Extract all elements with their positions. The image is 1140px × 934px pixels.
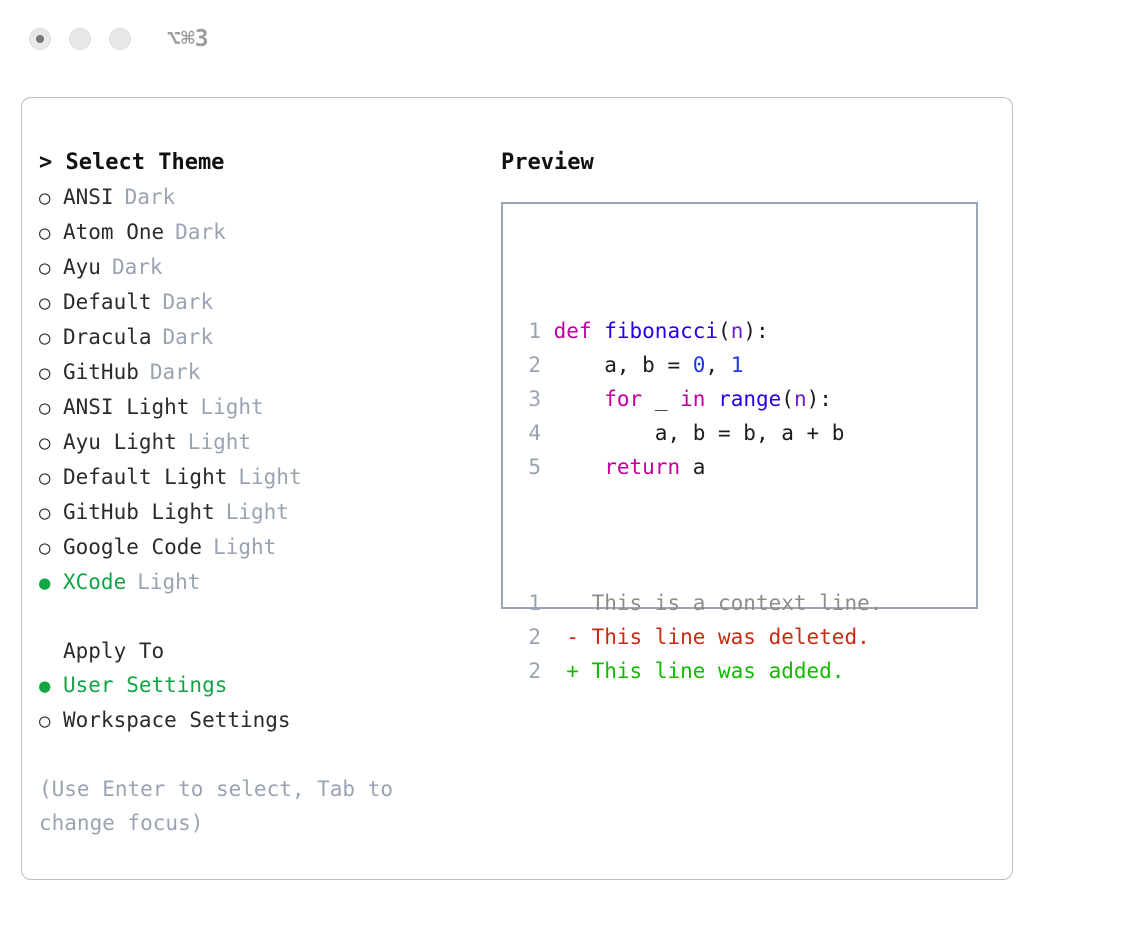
- code-line: 2 a, b = 0, 1: [515, 348, 882, 382]
- code-token-plain: [705, 387, 718, 411]
- preview-heading: Preview: [501, 146, 1001, 180]
- radio-unselected-icon: ○: [39, 321, 63, 355]
- keyboard-hint-text: (Use Enter to select, Tab to change focu…: [39, 772, 439, 840]
- code-sample: 1 def fibonacci(n):2 a, b = 0, 13 for _ …: [515, 314, 882, 484]
- theme-kind-label: Dark: [150, 355, 201, 389]
- code-line-number: 3: [515, 382, 541, 416]
- apply-to-heading: Apply To: [39, 634, 479, 668]
- code-token-var: n: [731, 319, 744, 343]
- apply-to-option-label: Workspace Settings: [63, 703, 291, 737]
- theme-list-item[interactable]: ○Google CodeLight: [39, 530, 479, 565]
- apply-to-option-label: User Settings: [63, 668, 227, 702]
- apply-to-options: ●User Settings○Workspace Settings: [39, 668, 479, 738]
- window-controls: [29, 28, 131, 50]
- radio-unselected-icon: ○: [39, 426, 63, 460]
- diff-line-text-add: + This line was added.: [566, 659, 844, 683]
- code-line-number: 1: [515, 314, 541, 348]
- code-token-plain: ):: [807, 387, 832, 411]
- code-line-number: 4: [515, 416, 541, 450]
- window-button-3[interactable]: [109, 28, 131, 50]
- diff-line: 1 This is a context line.: [515, 586, 882, 620]
- radio-unselected-icon: ○: [39, 286, 63, 320]
- code-token-var: n: [794, 387, 807, 411]
- code-token-num: 0: [693, 353, 706, 377]
- theme-kind-label: Light: [188, 425, 251, 459]
- code-token-fn: range: [718, 387, 781, 411]
- diff-sample: 1 This is a context line.2 - This line w…: [515, 586, 882, 688]
- code-line-number: 5: [515, 450, 541, 484]
- code-token-plain: ,: [705, 353, 730, 377]
- theme-kind-label: Light: [200, 390, 263, 424]
- radio-unselected-icon: ○: [39, 181, 63, 215]
- theme-list-item[interactable]: ○Atom OneDark: [39, 215, 479, 250]
- theme-kind-label: Dark: [163, 285, 214, 319]
- theme-list-item[interactable]: ○Default LightLight: [39, 460, 479, 495]
- code-token-kw: for: [604, 387, 642, 411]
- theme-kind-label: Dark: [112, 250, 163, 284]
- theme-list: ○ANSIDark○Atom OneDark○AyuDark○DefaultDa…: [39, 180, 479, 600]
- radio-unselected-icon: ○: [39, 704, 63, 738]
- radio-unselected-icon: ○: [39, 496, 63, 530]
- code-line: 1 def fibonacci(n):: [515, 314, 882, 348]
- window-button-1[interactable]: [29, 28, 51, 50]
- theme-kind-label: Light: [238, 460, 301, 494]
- code-line-number: 2: [515, 348, 541, 382]
- preview-column: Preview 1 def fibonacci(n):2 a, b = 0, 1…: [501, 146, 1001, 609]
- theme-list-item[interactable]: ●XCodeLight: [39, 565, 479, 600]
- theme-kind-label: Light: [137, 565, 200, 599]
- code-token-kw: in: [680, 387, 705, 411]
- title-bar: ⌥⌘3: [0, 0, 1140, 78]
- code-token-num: 1: [731, 353, 744, 377]
- code-line: 4 a, b = b, a + b: [515, 416, 882, 450]
- preview-box: 1 def fibonacci(n):2 a, b = 0, 13 for _ …: [501, 202, 978, 609]
- diff-line-number: 2: [515, 654, 541, 688]
- apply-to-group: Apply To ●User Settings○Workspace Settin…: [39, 634, 479, 738]
- theme-list-item[interactable]: ○GitHub LightLight: [39, 495, 479, 530]
- radio-selected-icon: ●: [39, 566, 63, 600]
- window-button-2[interactable]: [69, 28, 91, 50]
- theme-list-item[interactable]: ○DefaultDark: [39, 285, 479, 320]
- diff-line-number: 2: [515, 620, 541, 654]
- theme-name: Google Code: [63, 530, 202, 564]
- code-token-plain: ):: [743, 319, 768, 343]
- theme-picker-panel: > Select Theme ○ANSIDark○Atom OneDark○Ay…: [21, 97, 1013, 880]
- theme-name: Ayu Light: [63, 425, 177, 459]
- theme-name: Ayu: [63, 250, 101, 284]
- code-line: 5 return a: [515, 450, 882, 484]
- theme-name: GitHub Light: [63, 495, 215, 529]
- theme-kind-label: Dark: [175, 215, 226, 249]
- diff-line: 2 + This line was added.: [515, 654, 882, 688]
- theme-kind-label: Light: [226, 495, 289, 529]
- diff-line-text-ctx: This is a context line.: [566, 591, 882, 615]
- theme-name: Atom One: [63, 215, 164, 249]
- code-token-plain: a, b =: [554, 353, 693, 377]
- code-token-plain: a: [680, 455, 705, 479]
- theme-list-item[interactable]: ○Ayu LightLight: [39, 425, 479, 460]
- radio-unselected-icon: ○: [39, 356, 63, 390]
- radio-selected-icon: ●: [39, 669, 63, 703]
- theme-list-item[interactable]: ○DraculaDark: [39, 320, 479, 355]
- theme-name: ANSI: [63, 180, 114, 214]
- theme-list-item[interactable]: ○AyuDark: [39, 250, 479, 285]
- diff-line-text-del: - This line was deleted.: [566, 625, 869, 649]
- theme-list-item[interactable]: ○ANSIDark: [39, 180, 479, 215]
- theme-list-column: > Select Theme ○ANSIDark○Atom OneDark○Ay…: [39, 146, 479, 840]
- code-token-fn: fibonacci: [604, 319, 718, 343]
- theme-kind-label: Dark: [125, 180, 176, 214]
- code-token-plain: (: [718, 319, 731, 343]
- code-token-plain: a, b = b, a + b: [554, 421, 845, 445]
- radio-unselected-icon: ○: [39, 391, 63, 425]
- keyboard-shortcut-label: ⌥⌘3: [167, 28, 209, 51]
- code-line: 3 for _ in range(n):: [515, 382, 882, 416]
- panel-columns: > Select Theme ○ANSIDark○Atom OneDark○Ay…: [22, 98, 1012, 879]
- radio-unselected-icon: ○: [39, 531, 63, 565]
- theme-kind-label: Light: [213, 530, 276, 564]
- radio-unselected-icon: ○: [39, 461, 63, 495]
- theme-name: Default Light: [63, 460, 227, 494]
- code-preview: 1 def fibonacci(n):2 a, b = 0, 13 for _ …: [515, 246, 882, 756]
- radio-unselected-icon: ○: [39, 216, 63, 250]
- theme-list-item[interactable]: ○ANSI LightLight: [39, 390, 479, 425]
- radio-unselected-icon: ○: [39, 251, 63, 285]
- theme-name: Dracula: [63, 320, 152, 354]
- theme-name: GitHub: [63, 355, 139, 389]
- select-theme-heading: > Select Theme: [39, 146, 479, 180]
- theme-name: Default: [63, 285, 152, 319]
- theme-name: ANSI Light: [63, 390, 189, 424]
- theme-kind-label: Dark: [163, 320, 214, 354]
- code-token-kw: return: [604, 455, 680, 479]
- theme-list-item[interactable]: ○GitHubDark: [39, 355, 479, 390]
- apply-to-option[interactable]: ○Workspace Settings: [39, 703, 479, 738]
- code-token-kw: def: [554, 319, 605, 343]
- theme-name: XCode: [63, 565, 126, 599]
- apply-to-option[interactable]: ●User Settings: [39, 668, 479, 703]
- diff-line-number: 1: [515, 586, 541, 620]
- code-token-plain: [554, 387, 605, 411]
- window-button-active-indicator: [36, 35, 44, 43]
- diff-line: 2 - This line was deleted.: [515, 620, 882, 654]
- code-token-plain: (: [781, 387, 794, 411]
- code-token-plain: _: [642, 387, 680, 411]
- code-token-plain: [554, 455, 605, 479]
